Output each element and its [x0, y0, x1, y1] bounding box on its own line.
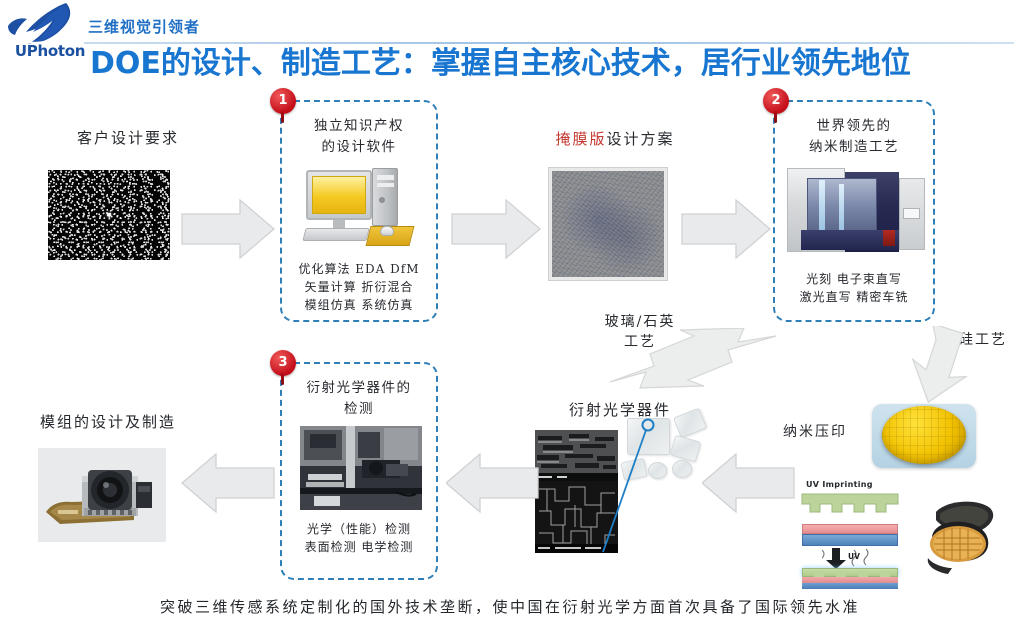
- label-nano-imprint: 纳米压印: [760, 422, 870, 442]
- stage-2-title: 世界领先的 纳米制造工艺: [775, 116, 933, 158]
- label-customer-requirement: 客户设计要求: [38, 128, 218, 150]
- structured-light-speckle-pattern-image: [48, 170, 170, 260]
- arrow-mask-to-nano: [678, 196, 774, 262]
- monitor-screen: [312, 176, 366, 214]
- stage-3-title: 衍射光学器件的 检测: [282, 378, 436, 420]
- arrow-requirement-to-software: [178, 196, 278, 262]
- pc-mouse: [380, 226, 394, 236]
- stage-2-footer: 光刻 电子束直写 激光直写 精密车铣: [775, 270, 933, 306]
- doe-glass-chip-4: [620, 458, 647, 482]
- uv-mold: [800, 492, 904, 520]
- design-software-computer-illustration: [300, 164, 422, 250]
- mask-design-pattern-image: [549, 168, 667, 280]
- stage-badge-1: 1: [270, 88, 296, 114]
- silicon-wafer-image: [882, 406, 966, 464]
- label-module-design: 模组的设计及制造: [18, 412, 198, 434]
- stage-box-1[interactable]: 独立知识产权 的设计软件 优化算法 EDA DfM 矢量计算 折衍混合 模组仿真…: [280, 100, 438, 322]
- doe-glass-lens-round: [648, 462, 667, 479]
- pc-monitor: [306, 170, 372, 220]
- doe-glass-lens-round-2: [672, 460, 692, 478]
- logo: UPhoton: [4, 2, 92, 64]
- pc-keyboard: [302, 228, 369, 241]
- slide-header: UPhoton 三维视觉引领者 DOE的设计、制造工艺：掌握自主核心技术，居行业…: [0, 0, 1020, 88]
- uv-imprinting-diagram: UV: [800, 492, 904, 586]
- pc-tower: [372, 168, 398, 226]
- optical-inspection-bench-photo: [300, 426, 422, 510]
- stage-1-title: 独立知识产权 的设计软件: [282, 116, 436, 158]
- arrow-glass-to-doe: [610, 328, 780, 394]
- arrow-doe-to-inspection: [446, 450, 542, 516]
- arrow-nano-to-silicon: [910, 326, 990, 406]
- sem-image-top-view: [535, 481, 618, 553]
- stage-badge-3: 3: [270, 350, 296, 376]
- slide-caption: 突破三维传感系统定制化的国外技术垄断，使中国在衍射光学方面首次具备了国际领先水准: [0, 596, 1020, 617]
- uv-final-substrate: [802, 583, 898, 589]
- stage-box-3[interactable]: 衍射光学器件的 检测 光学（性能）: [280, 362, 438, 580]
- stage-badge-2: 2: [763, 88, 789, 114]
- doe-glass-chip-3: [670, 435, 702, 463]
- label-mask-design-highlight: 掩膜版: [555, 130, 606, 148]
- page-title: DOE的设计、制造工艺：掌握自主核心技术，居行业领先地位: [90, 44, 1014, 84]
- sem-image-cross-section: [535, 430, 618, 481]
- camera-module-image: [38, 448, 166, 542]
- uv-substrate-layer: [802, 534, 898, 546]
- arrow-imprint-to-doe: [702, 450, 798, 516]
- stage-box-2[interactable]: 世界领先的 纳米制造工艺 光刻 电子束直写 激光直写 精密车铣: [773, 100, 935, 322]
- arrow-inspection-to-module: [178, 450, 278, 516]
- slide-canvas: UPhoton 三维视觉引领者 DOE的设计、制造工艺：掌握自主核心技术，居行业…: [0, 0, 1020, 633]
- logo-text: UPhoton: [8, 42, 92, 60]
- stage-3-footer: 光学（性能）检测 表面检测 电学检测: [282, 520, 436, 556]
- uv-resist-layer: [802, 524, 898, 534]
- uv-label: UV: [848, 552, 860, 561]
- nano-manufacturing-machine-photo: [787, 168, 925, 252]
- label-uv-imprinting: UV Imprinting: [806, 480, 873, 489]
- stage-1-footer: 优化算法 EDA DfM 矢量计算 折衍混合 模组仿真 系统仿真: [282, 260, 436, 314]
- waffle-iron-analogy-image: [918, 498, 1004, 576]
- label-mask-design-rest: 设计方案: [607, 130, 675, 148]
- speckle-center-dot: [107, 213, 111, 216]
- label-mask-design: 掩膜版设计方案: [515, 128, 715, 149]
- tagline: 三维视觉引领者: [88, 16, 200, 37]
- doe-glass-chip-main: [627, 418, 670, 455]
- arrow-software-to-mask: [448, 196, 544, 262]
